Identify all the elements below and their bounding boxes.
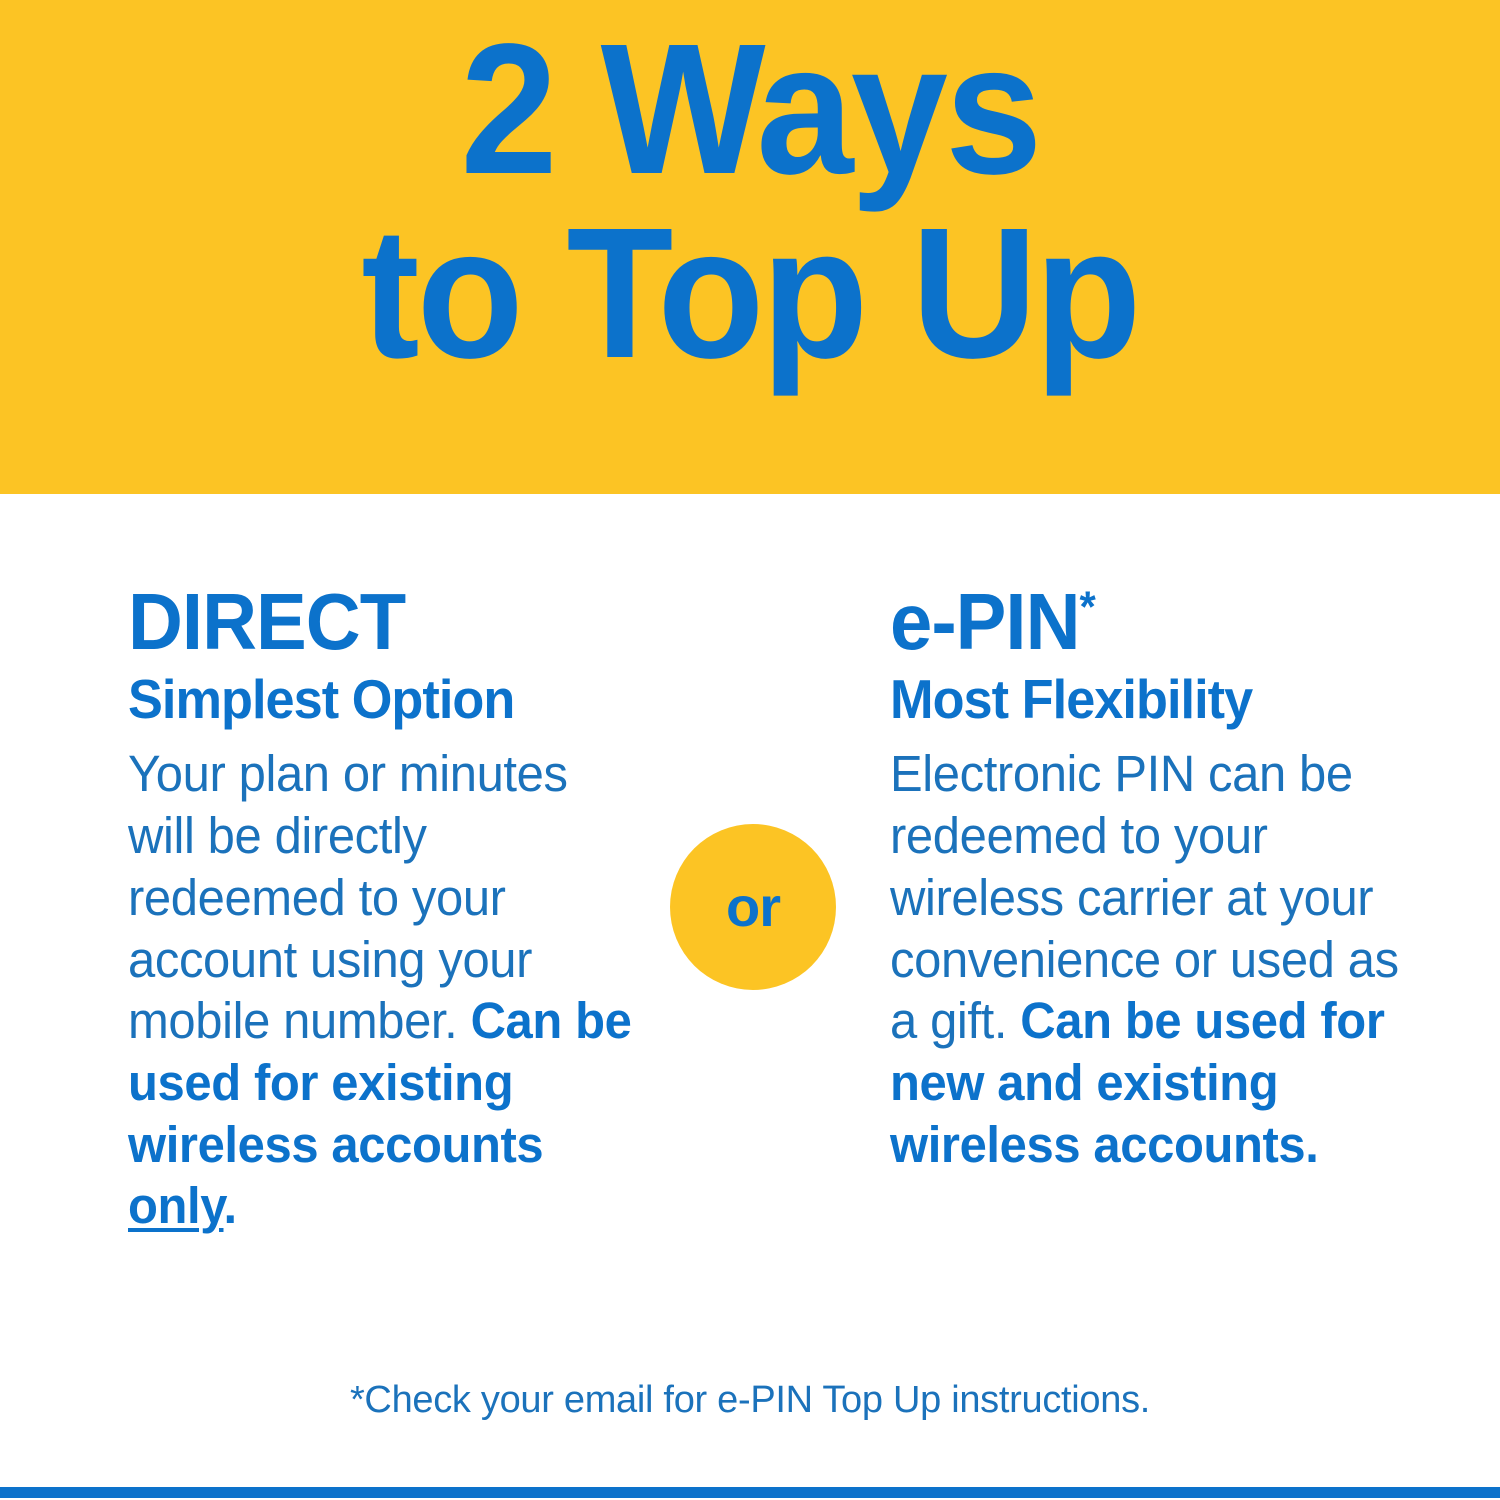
- option-card-epin: e-PIN* Most Flexibility Electronic PIN c…: [890, 584, 1430, 1175]
- option-direct-body-underline: only: [128, 1177, 223, 1234]
- option-direct-heading: DIRECT: [128, 584, 641, 660]
- or-divider-label: or: [726, 879, 780, 935]
- option-direct-body: Your plan or minutes will be directly re…: [128, 743, 646, 1237]
- or-divider-badge: or: [670, 824, 836, 990]
- hero-banner: 2 Ways to Top Up: [0, 0, 1500, 494]
- option-direct-subheading: Simplest Option: [128, 670, 641, 729]
- option-card-direct: DIRECT Simplest Option Your plan or minu…: [128, 584, 668, 1237]
- option-direct-body-bold-suffix: .: [223, 1177, 236, 1234]
- footnote-text: *Check your email for e-PIN Top Up instr…: [0, 1378, 1500, 1424]
- page-title: 2 Ways to Top Up: [45, 18, 1455, 386]
- option-epin-body: Electronic PIN can be redeemed to your w…: [890, 743, 1408, 1175]
- bottom-accent-bar: [0, 1487, 1500, 1498]
- option-epin-heading: e-PIN*: [890, 584, 1403, 660]
- footnote-asterisk-icon: *: [1080, 582, 1095, 631]
- option-epin-subheading: Most Flexibility: [890, 670, 1403, 729]
- option-epin-heading-text: e-PIN: [890, 577, 1080, 666]
- top-up-poster: 2 Ways to Top Up DIRECT Simplest Option …: [0, 0, 1500, 1500]
